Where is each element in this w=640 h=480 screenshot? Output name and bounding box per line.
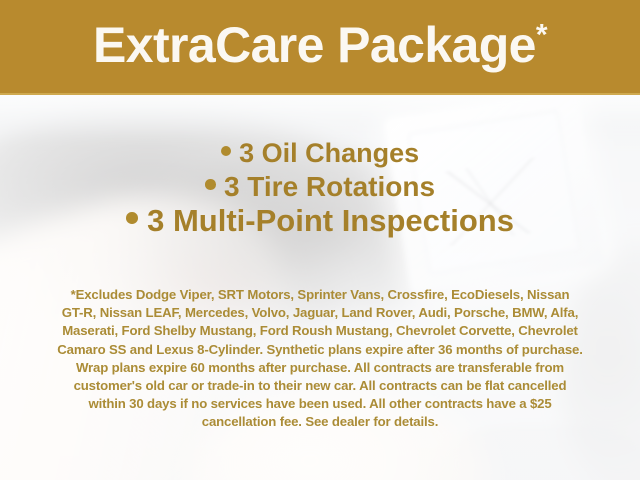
disclaimer-line: *Excludes Dodge Viper, SRT Motors, Sprin… [26,286,614,304]
bullet-dot-icon [205,179,216,190]
benefit-item-oil-changes: 3 Oil Changes [0,138,640,170]
disclaimer-line: Wrap plans expire 60 months after purcha… [26,359,614,377]
bullet-dot-icon [221,146,231,156]
disclaimer-line: Maserati, Ford Shelby Mustang, Ford Rous… [26,322,614,340]
disclaimer-line: within 30 days if no services have been … [26,395,614,413]
benefit-item-label: 3 Oil Changes [239,138,419,168]
bullet-dot-icon [126,212,138,224]
page-title-asterisk: * [536,18,547,51]
disclaimer-line: GT-R, Nissan LEAF, Mercedes, Volvo, Jagu… [26,304,614,322]
disclaimer-line: cancellation fee. See dealer for details… [26,413,614,431]
page-title: ExtraCare Package* [93,20,547,70]
benefit-item-tire-rotations: 3 Tire Rotations [0,170,640,203]
benefit-item-label: 3 Multi-Point Inspections [147,203,514,238]
extracare-promo-card: ExtraCare Package* 3 Oil Changes 3 Tire … [0,0,640,480]
benefit-item-multi-point-inspections: 3 Multi-Point Inspections [0,203,640,240]
disclaimer-text: *Excludes Dodge Viper, SRT Motors, Sprin… [26,286,614,432]
disclaimer-line: Camaro SS and Lexus 8-Cylinder. Syntheti… [26,341,614,359]
benefit-item-label: 3 Tire Rotations [224,171,435,202]
header-banner: ExtraCare Package* [0,0,640,95]
benefits-list: 3 Oil Changes 3 Tire Rotations 3 Multi-P… [0,138,640,239]
disclaimer-line: customer's old car or trade-in to their … [26,377,614,395]
page-title-text: ExtraCare Package [93,17,536,73]
